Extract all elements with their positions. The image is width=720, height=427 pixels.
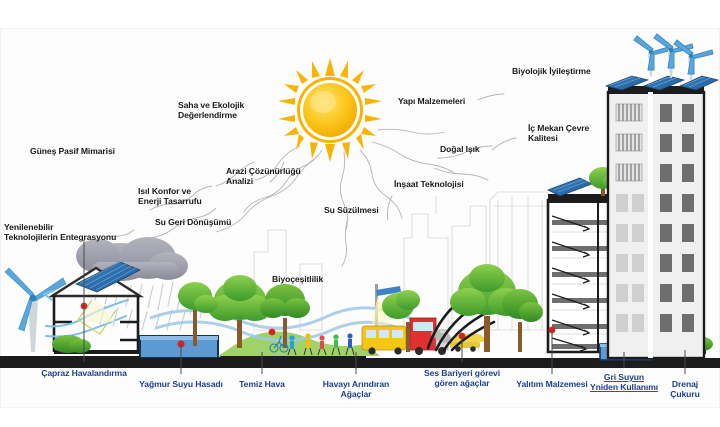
solar-panel-icon [548, 177, 592, 196]
label-saha-ekolojik: Saha ve Ekolojik Değerlendirme [178, 100, 244, 120]
tower-building-icon [606, 34, 718, 358]
label-biyolojik-iyilestirme: Biyolojik İyileştirme [512, 66, 591, 76]
marker-dot [269, 329, 276, 336]
label-insaat-teknolojisi: İnşaat Teknolojisi [394, 179, 464, 189]
water-basin-icon [140, 336, 218, 358]
solar-panel-icon [606, 76, 718, 90]
label-ses-bariyeri-agaclar: Ses Bariyeri görevi gören ağaçlar [424, 368, 500, 388]
solar-panel-house-icon [44, 261, 140, 354]
label-su-geri-donusumu: Su Geri Dönüşümü [155, 217, 231, 227]
label-arazi-cozunurlugu: Arazi Çözünürlüğü Analizi [226, 166, 301, 186]
label-dogal-isik: Doğal Işık [440, 144, 480, 154]
tree-icon [502, 289, 543, 352]
label-gri-suyun-yeniden-kullanimi: Gri Suyun Yniden Kullanımı [590, 372, 658, 392]
label-drenaj-cukuru: Drenaj Çukuru [668, 379, 703, 399]
label-yapi-malzemeleri: Yapı Malzemeleri [398, 96, 465, 106]
sun-icon [278, 58, 382, 162]
label-yenilenebilir-teknolojiler: Yenilenebilir Teknolojilerin Entegrasyon… [4, 222, 116, 242]
label-capraz-havalandirma: Çapraz Havalandırma [41, 368, 127, 378]
label-ic-mekan-cevre: İç Mekan Çevre Kalitesi [528, 123, 589, 143]
bus-icon [362, 326, 406, 355]
label-su-suzulmesi: Su Süzülmesi [324, 205, 379, 215]
label-biyocesitlilik: Biyoçeşitlilik [272, 274, 323, 284]
infographic-canvas: Güneş Pasif Mimarisi Yenilenebilir Tekno… [0, 0, 720, 427]
label-havayi-arindiran-agaclar: Havayı Arındıran Ağaçlar [323, 379, 389, 399]
wind-turbine-icon [674, 40, 713, 80]
label-isil-konfor: Isıl Konfor ve Enerji Tasarrufu [138, 186, 202, 206]
label-temiz-hava: Temiz Hava [239, 379, 285, 389]
wind-turbine-icon [654, 34, 693, 78]
label-yagmur-suyu-hasadi: Yağmur Suyu Hasadı [139, 379, 223, 389]
label-gunes-pasif-mimarisi: Güneş Pasif Mimarisi [30, 146, 115, 156]
label-yalitim-malzemesi: Yalıtım Malzemesi [516, 379, 587, 389]
